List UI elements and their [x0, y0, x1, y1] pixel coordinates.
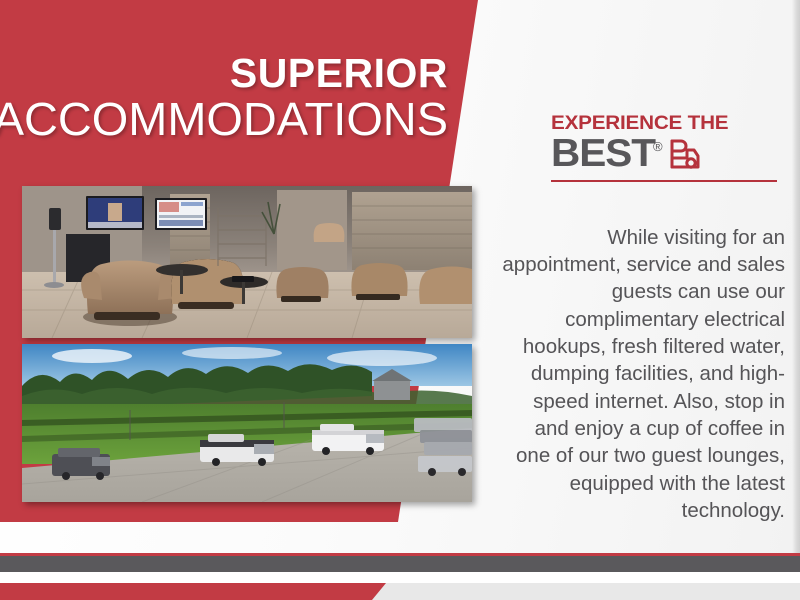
footer-white-gap: [0, 572, 800, 583]
logo-wordmark: BEST: [551, 135, 655, 172]
photo-rv-parking-lot: [22, 344, 472, 502]
footer-gray-band: [0, 556, 800, 572]
body-copy: While visiting for an appointment, servi…: [497, 224, 785, 525]
rv-motorhome-icon: [667, 137, 701, 176]
photo-guest-lounge-interior: [22, 186, 472, 338]
logo-main-row: BEST ®: [551, 135, 783, 176]
logo-underline-rule: [551, 180, 777, 182]
right-edge-strip: [792, 0, 800, 562]
footer-red-accent-band: [0, 583, 400, 600]
marketing-poster: SUPERIOR ACCOMMODATIONS: [0, 0, 800, 600]
brand-logo: EXPERIENCE THE BEST ®: [551, 114, 783, 182]
